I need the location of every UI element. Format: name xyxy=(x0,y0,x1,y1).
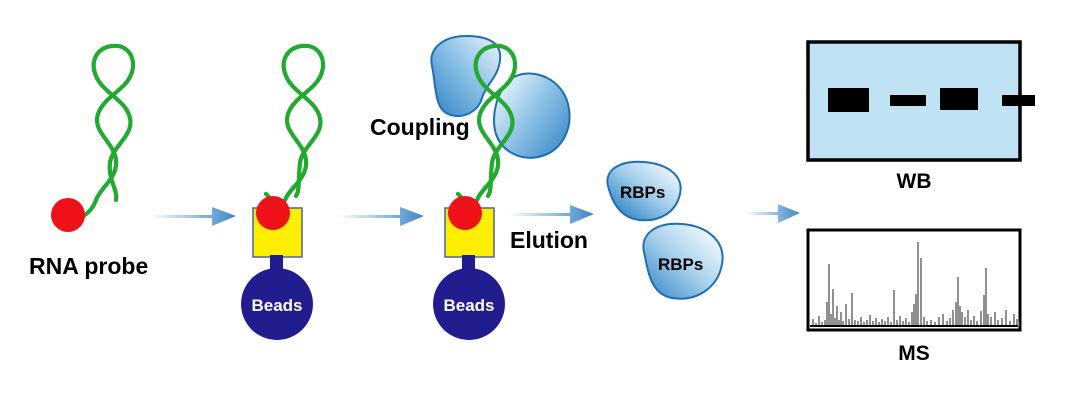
rbps-label-1: RBPs xyxy=(620,183,665,202)
wb-band xyxy=(940,88,978,110)
coupling-label: Coupling xyxy=(370,114,470,140)
wb-band xyxy=(890,95,926,106)
probe-label-dot xyxy=(51,198,85,232)
mass-spectrum-panel xyxy=(808,230,1020,330)
wb-band xyxy=(1002,95,1035,106)
figure-root: RNA probe Beads Coupling Beads xyxy=(0,0,1080,409)
western-blot-panel xyxy=(808,42,1035,160)
elution-label: Elution xyxy=(510,227,588,253)
beads-label-2: Beads xyxy=(443,296,494,315)
rna-probe-label: RNA probe xyxy=(29,253,148,279)
probe-dot-1 xyxy=(256,196,290,230)
wb-band xyxy=(828,88,869,112)
probe-dot-2 xyxy=(448,196,482,230)
ms-caption: MS xyxy=(898,342,930,365)
rbps-label-2: RBPs xyxy=(658,255,703,274)
beads-label-1: Beads xyxy=(251,296,302,315)
wb-caption: WB xyxy=(897,170,932,193)
workflow-diagram: RNA probe Beads Coupling Beads xyxy=(0,0,1080,409)
